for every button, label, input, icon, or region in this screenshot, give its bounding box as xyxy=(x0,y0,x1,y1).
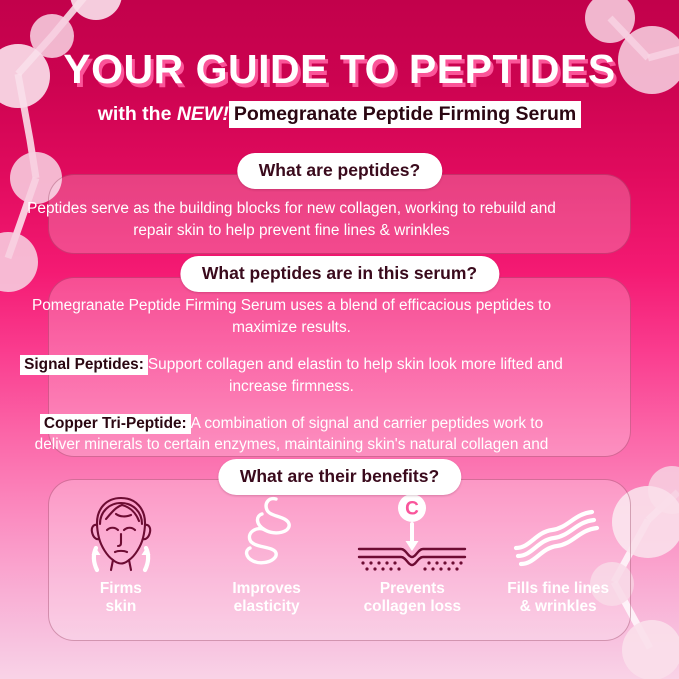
benefit-label: Fills fine lines & wrinkles xyxy=(507,580,609,616)
peptide-term-signal: Signal Peptides: xyxy=(20,355,148,375)
body-which-peptides: Pomegranate Peptide Firming Serum uses a… xyxy=(0,295,583,478)
paragraph: Peptides serve as the building blocks fo… xyxy=(18,198,565,242)
benefit-label: Prevents collagen loss xyxy=(364,580,462,616)
peptide-item-signal: Signal Peptides:Support collagen and ela… xyxy=(18,354,565,398)
heading-benefits: What are their benefits? xyxy=(218,459,461,495)
benefit-item-improves-elasticity: Improves elasticity xyxy=(194,492,340,637)
peptide-term-copper: Copper Tri-Peptide: xyxy=(40,414,191,434)
subtitle-new-badge: NEW! xyxy=(177,103,229,125)
benefit-item-prevents-collagen-loss: C xyxy=(340,492,486,637)
subtitle: with the NEW!Pomegranate Peptide Firming… xyxy=(0,102,679,126)
face-lift-icon xyxy=(82,492,160,576)
page-title: YOUR GUIDE TO PEPTIDES xyxy=(0,0,679,93)
body-what-are-peptides: Peptides serve as the building blocks fo… xyxy=(0,198,583,242)
wavy-lines-icon xyxy=(508,492,608,576)
benefit-item-fills-fine-lines: Fills fine lines & wrinkles xyxy=(485,492,631,637)
benefit-item-firms-skin: Firms skin xyxy=(48,492,194,637)
heading-what-are-peptides: What are peptides? xyxy=(237,153,442,189)
spring-coil-icon xyxy=(231,492,303,576)
subtitle-product-name: Pomegranate Peptide Firming Serum xyxy=(229,101,581,128)
peptides-infographic: YOUR GUIDE TO PEPTIDES with the NEW!Pome… xyxy=(0,0,679,679)
benefit-label: Improves elasticity xyxy=(232,580,300,616)
peptide-description-signal: Support collagen and elastin to help ski… xyxy=(148,356,563,395)
infographic-header: YOUR GUIDE TO PEPTIDES with the NEW!Pome… xyxy=(0,0,679,126)
collagen-skin-layers-icon: C xyxy=(351,492,473,576)
intro-paragraph: Pomegranate Peptide Firming Serum uses a… xyxy=(18,295,565,339)
collagen-letter: C xyxy=(406,499,420,520)
subtitle-prefix: with the xyxy=(98,103,177,125)
heading-which-peptides: What peptides are in this serum? xyxy=(180,256,499,292)
benefits-list: Firms skin Improves elasticity C xyxy=(48,492,631,637)
benefit-label: Firms skin xyxy=(100,580,142,616)
